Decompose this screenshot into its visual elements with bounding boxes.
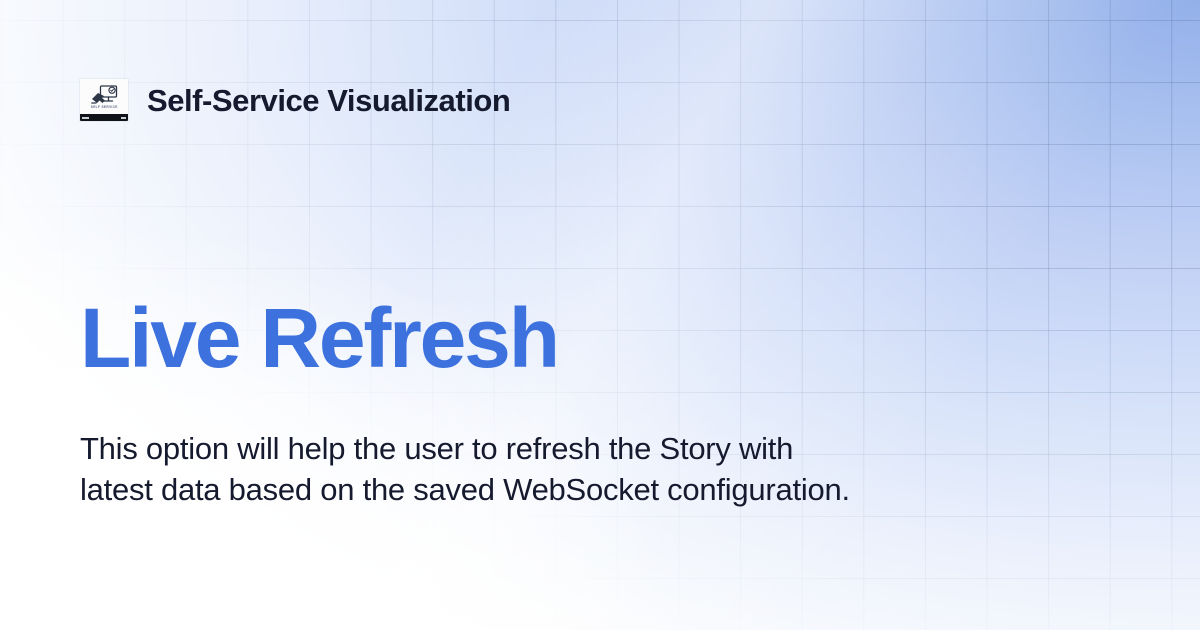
brand-logo-footer-bar [80, 114, 128, 121]
card-content: SELF SERVICE Self-Service Visualization … [0, 0, 1200, 630]
page-title: Live Refresh [80, 296, 558, 380]
self-service-monitor-icon [90, 85, 118, 104]
brand-logo-caption: SELF SERVICE [90, 106, 117, 109]
brand-logo: SELF SERVICE [80, 79, 128, 121]
brand-title: Self-Service Visualization [147, 85, 510, 116]
og-card: SELF SERVICE Self-Service Visualization … [0, 0, 1200, 630]
page-description: This option will help the user to refres… [80, 428, 850, 510]
brand-header: SELF SERVICE Self-Service Visualization [80, 79, 510, 121]
